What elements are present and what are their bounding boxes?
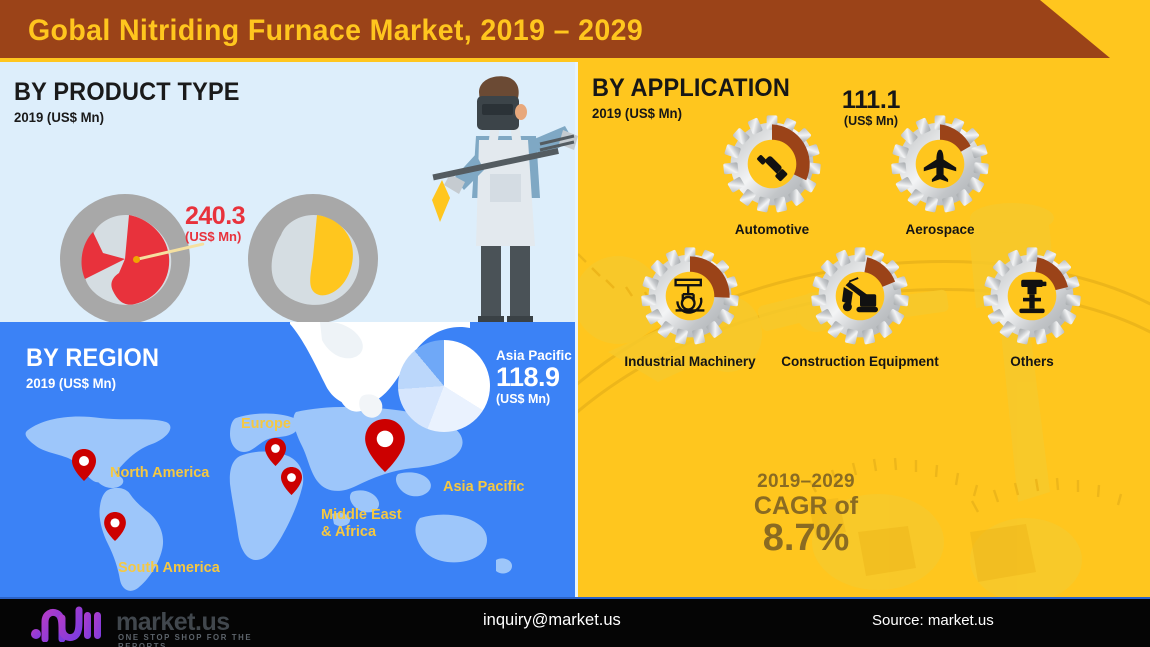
map-pin-middle-east-africa[interactable] [281,467,302,495]
thermal-gas-value-callout: 240.3 (US$ Mn) [185,204,245,246]
product-type-circle-vacuum [248,194,378,324]
header-bar: Gobal Nitriding Furnace Market, 2019 – 2… [0,0,1150,62]
vacuum-gas-blob-icon [261,207,365,311]
footer-source: Source: market.us [872,612,994,629]
product-type-heading: BY PRODUCT TYPE [14,80,240,105]
cagr-label: CAGR of [706,493,906,519]
region-subheading: 2019 (US$ Mn) [26,376,159,390]
cagr-callout: 2019–2029 CAGR of 8.7% [706,472,906,557]
thermal-gas-value: 240.3 [185,204,245,229]
map-pin-south-america[interactable] [104,512,126,541]
product-type-subheading: 2019 (US$ Mn) [14,110,240,124]
panel-by-region: BY REGION 2019 (US$ Mn) North America So… [0,322,575,597]
asia-pacific-callout: Asia Pacific 118.9 (US$ Mn) [496,348,572,407]
region-pie-disc [398,340,490,432]
furnace-worker-illustration [432,74,582,324]
gear-label-industrial-machinery: Industrial Machinery [624,354,755,369]
gear-label-aerospace: Aerospace [905,222,974,237]
region-heading-group: BY REGION 2019 (US$ Mn) [26,346,168,390]
map-pin-europe[interactable] [265,438,286,466]
region-label-south-america: South America [118,560,220,577]
asia-pacific-unit: (US$ Mn) [496,391,572,407]
region-label-asia-pacific: Asia Pacific [443,479,524,496]
region-label-africa: & Africa [321,524,376,541]
cagr-value: 8.7% [706,519,906,557]
map-pin-north-america[interactable] [72,449,96,481]
footer-top-rule [0,597,1150,599]
region-label-north-america: North America [110,465,209,482]
gear-others[interactable] [978,242,1086,350]
asia-pacific-value: 118.9 [496,364,572,391]
callout-leader-dot [133,256,140,263]
gear-automotive[interactable] [718,110,826,218]
market-us-logo-tagline: ONE STOP SHOP FOR THE REPORTS [118,633,265,647]
infographic-root: Gobal Nitriding Furnace Market, 2019 – 2… [0,0,1150,647]
panel-by-product-type: BY PRODUCT TYPE 2019 (US$ Mn) 240.3 (US$… [0,62,575,322]
gear-label-others: Others [1010,354,1054,369]
market-us-logo[interactable]: market.us ONE STOP SHOP FOR THE REPORTS [30,606,265,644]
footer-email[interactable]: inquiry@market.us [483,611,621,630]
region-label-middle-east: Middle East [321,507,402,524]
region-label-europe: Europe [241,416,291,433]
cagr-period: 2019–2029 [706,472,906,493]
product-type-heading-group: BY PRODUCT TYPE 2019 (US$ Mn) [14,80,254,124]
product-type-circle-thermal [60,194,190,324]
region-heading: BY REGION [26,346,159,371]
thermal-gas-unit: (US$ Mn) [185,229,245,246]
application-heading: BY APPLICATION [592,76,790,101]
gear-industrial-machinery[interactable] [636,242,744,350]
thermal-gas-blob-icon [73,207,177,311]
region-pie-chart [398,340,490,432]
market-us-logo-mark-icon [30,606,102,642]
gear-label-automotive: Automotive [735,222,809,237]
page-title: Gobal Nitriding Furnace Market, 2019 – 2… [28,14,643,48]
gear-construction-equipment[interactable] [806,242,914,350]
gear-aerospace[interactable] [886,110,994,218]
panel-by-application: BY APPLICATION 2019 (US$ Mn) 111.1 (US$ … [578,62,1150,597]
gear-label-construction-equipment: Construction Equipment [781,354,939,369]
